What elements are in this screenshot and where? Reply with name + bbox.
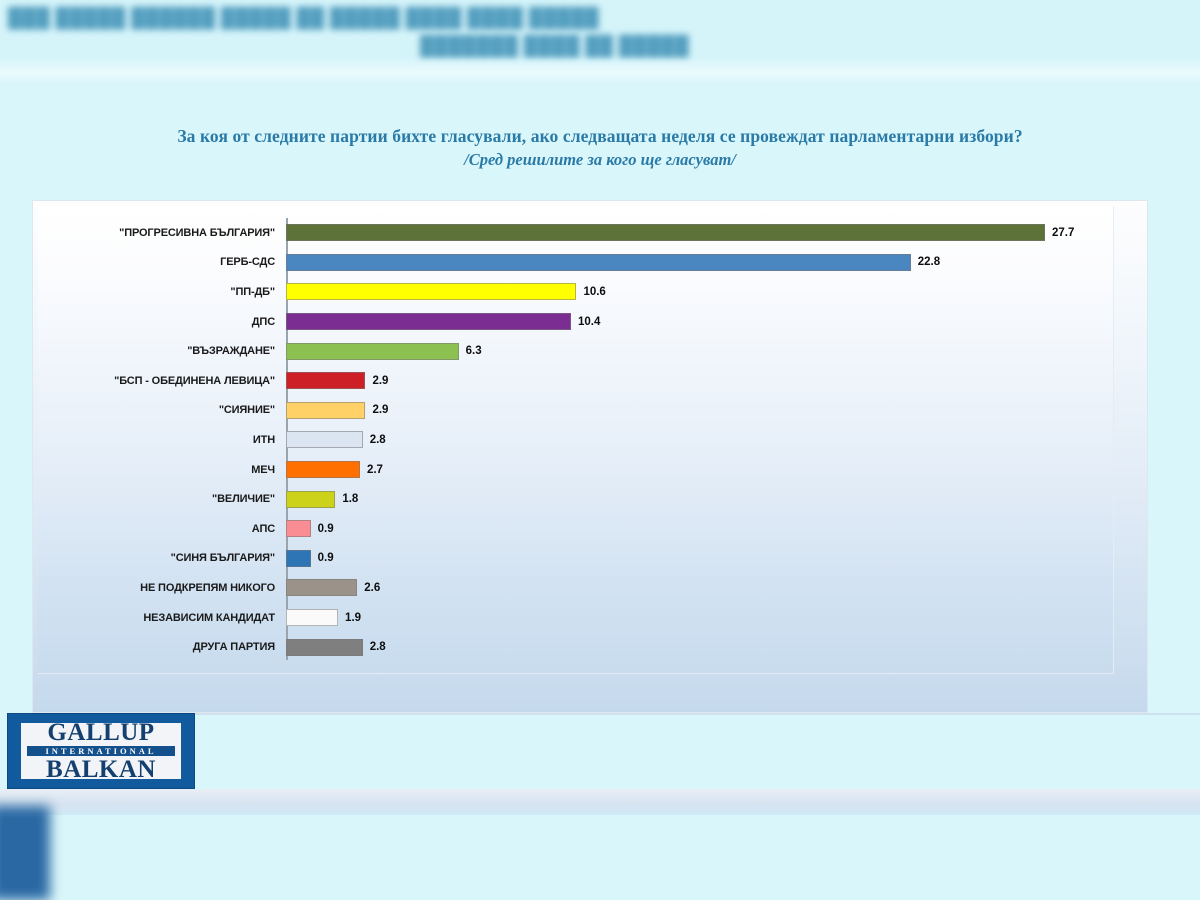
bar-track: 1.8	[286, 484, 1114, 514]
logo-text-gallup: GALLUP	[47, 720, 154, 745]
banner-fade-divider	[0, 58, 1200, 84]
bar-category-label: ИТН	[38, 434, 282, 446]
bar-value-label: 2.8	[370, 434, 386, 446]
bar-fill	[286, 550, 311, 567]
bar-row: "СИНЯ БЪЛГАРИЯ"0.9	[38, 544, 1114, 574]
bar-value-label: 2.6	[364, 582, 380, 594]
bar-fill	[286, 254, 911, 271]
bar-category-label: НЕ ПОДКРЕПЯМ НИКОГО	[38, 582, 282, 594]
bar-category-label: "СИНЯ БЪЛГАРИЯ"	[38, 552, 282, 564]
bar-value-label: 1.8	[342, 493, 358, 505]
bottom-gradient-band	[0, 789, 1200, 815]
bar-row: "ВЪЗРАЖДАНЕ"6.3	[38, 336, 1114, 366]
logo-inner-plate: GALLUP INTERNATIONAL BALKAN	[21, 723, 181, 779]
bar-fill	[286, 372, 365, 389]
bar-value-label: 2.9	[372, 404, 388, 416]
bar-row: "ВЕЛИЧИЕ"1.8	[38, 484, 1114, 514]
bar-value-label: 0.9	[318, 552, 334, 564]
bar-track: 2.8	[286, 632, 1114, 662]
bar-fill	[286, 313, 571, 330]
bar-row: ГЕРБ-СДС22.8	[38, 248, 1114, 278]
bar-category-label: ГЕРБ-СДС	[38, 256, 282, 268]
bar-fill	[286, 431, 363, 448]
logo-text-international: INTERNATIONAL	[27, 746, 175, 757]
bar-row: АПС0.9	[38, 514, 1114, 544]
bar-fill	[286, 343, 459, 360]
bar-track: 27.7	[286, 218, 1114, 248]
bar-value-label: 1.9	[345, 612, 361, 624]
bar-fill	[286, 491, 335, 508]
bar-row: ДРУГА ПАРТИЯ2.8	[38, 632, 1114, 662]
bar-value-label: 2.8	[370, 641, 386, 653]
bar-value-label: 10.6	[583, 286, 605, 298]
bar-row: НЕ ПОДКРЕПЯМ НИКОГО2.6	[38, 573, 1114, 603]
bar-track: 2.6	[286, 573, 1114, 603]
chart-subtitle: /Сред решилите за кого ще гласуват/	[0, 150, 1200, 170]
bar-category-label: "ВЪЗРАЖДАНЕ"	[38, 345, 282, 357]
bar-category-label: "ПП-ДБ"	[38, 286, 282, 298]
bar-category-label: "БСП - ОБЕДИНЕНА ЛЕВИЦА"	[38, 375, 282, 387]
bar-row: ИТН2.8	[38, 425, 1114, 455]
bar-category-label: АПС	[38, 523, 282, 535]
bar-category-label: НЕЗАВИСИМ КАНДИДАТ	[38, 612, 282, 624]
logo-text-balkan: BALKAN	[46, 757, 156, 782]
bar-value-label: 0.9	[318, 523, 334, 535]
bar-track: 22.8	[286, 248, 1114, 278]
bar-track: 10.4	[286, 307, 1114, 337]
bar-category-label: "ПРОГРЕСИВНА БЪЛГАРИЯ"	[38, 227, 282, 239]
bottom-background-fill	[0, 815, 1200, 900]
bar-value-label: 10.4	[578, 316, 600, 328]
bar-track: 2.8	[286, 425, 1114, 455]
bar-row: "СИЯНИЕ"2.9	[38, 396, 1114, 426]
bar-row: "ПП-ДБ"10.6	[38, 277, 1114, 307]
bar-row: МЕЧ2.7	[38, 455, 1114, 485]
gallup-international-balkan-logo: GALLUP INTERNATIONAL BALKAN	[7, 713, 195, 789]
bar-track: 0.9	[286, 514, 1114, 544]
bar-fill	[286, 609, 338, 626]
bar-fill	[286, 579, 357, 596]
bar-category-label: ДРУГА ПАРТИЯ	[38, 641, 282, 653]
bar-track: 2.9	[286, 396, 1114, 426]
bar-category-label: "ВЕЛИЧИЕ"	[38, 493, 282, 505]
bar-value-label: 6.3	[466, 345, 482, 357]
bar-fill	[286, 520, 311, 537]
bar-track: 10.6	[286, 277, 1114, 307]
bar-fill	[286, 461, 360, 478]
bottom-left-blurred-block	[0, 806, 50, 900]
bar-value-label: 22.8	[918, 256, 940, 268]
bar-category-label: ДПС	[38, 316, 282, 328]
bar-track: 1.9	[286, 603, 1114, 633]
bar-row: "ПРОГРЕСИВНА БЪЛГАРИЯ"27.7	[38, 218, 1114, 248]
bar-track: 6.3	[286, 336, 1114, 366]
chart-title: За коя от следните партии бихте гласувал…	[0, 126, 1200, 147]
bar-value-label: 27.7	[1052, 227, 1074, 239]
bar-row: НЕЗАВИСИМ КАНДИДАТ1.9	[38, 603, 1114, 633]
chart-panel: "ПРОГРЕСИВНА БЪЛГАРИЯ"27.7ГЕРБ-СДС22.8"П…	[32, 200, 1148, 713]
bar-value-label: 2.9	[372, 375, 388, 387]
bar-track: 0.9	[286, 544, 1114, 574]
bar-series: "ПРОГРЕСИВНА БЪЛГАРИЯ"27.7ГЕРБ-СДС22.8"П…	[38, 218, 1114, 662]
logo-divider-rule	[195, 713, 1200, 715]
bar-value-label: 2.7	[367, 464, 383, 476]
bar-track: 2.7	[286, 455, 1114, 485]
bar-track: 2.9	[286, 366, 1114, 396]
bar-fill	[286, 639, 363, 656]
bar-row: ДПС10.4	[38, 307, 1114, 337]
bar-fill	[286, 224, 1045, 241]
bar-category-label: "СИЯНИЕ"	[38, 404, 282, 416]
banner-blurred-line-2: ███████ ████ ██ █████	[420, 36, 689, 58]
bar-category-label: МЕЧ	[38, 464, 282, 476]
banner-blurred-line-1: ███ █████ ██████ █████ ██ █████ ████ ███…	[8, 8, 599, 30]
plot-area: "ПРОГРЕСИВНА БЪЛГАРИЯ"27.7ГЕРБ-СДС22.8"П…	[38, 206, 1114, 674]
bar-fill	[286, 283, 576, 300]
bar-row: "БСП - ОБЕДИНЕНА ЛЕВИЦА"2.9	[38, 366, 1114, 396]
bar-fill	[286, 402, 365, 419]
